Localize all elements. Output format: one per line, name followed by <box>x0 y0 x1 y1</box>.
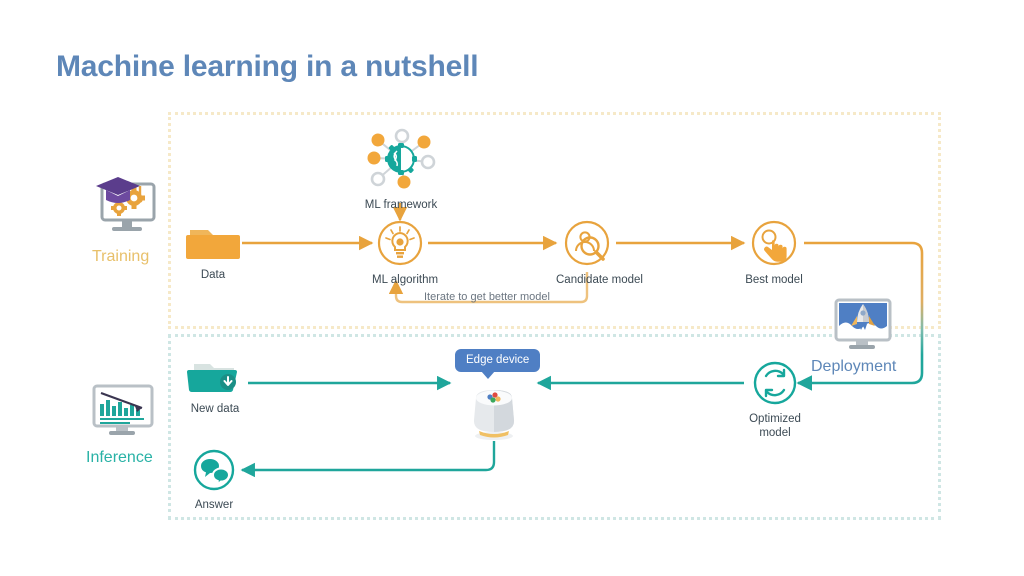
node-label: Data <box>182 268 244 282</box>
sidebar-item-inference <box>88 380 160 444</box>
node-ml-framework: ML framework <box>358 124 444 212</box>
node-label: Candidate model <box>556 273 618 287</box>
node-label: Best model <box>744 273 804 287</box>
node-label: Optimized model <box>744 412 806 441</box>
node-answer: Answer <box>186 448 242 512</box>
node-new-data: New data <box>184 360 246 416</box>
training-monitor-gears-gradcap-icon <box>84 170 164 242</box>
node-ml-algorithm: ML algorithm <box>372 219 428 287</box>
hand-select-circle-icon <box>744 219 804 269</box>
node-label: New data <box>184 402 246 416</box>
speech-bubbles-circle-icon <box>186 448 242 494</box>
diagram-canvas: Machine learning in a nutshell <box>0 0 1024 576</box>
smart-speaker-icon <box>460 378 528 444</box>
inference-section-label: Inference <box>86 449 153 467</box>
node-label: ML algorithm <box>372 273 428 287</box>
node-label-line1: Optimized <box>749 413 801 425</box>
deployment-section-label: Deployment <box>811 358 896 376</box>
person-magnifier-circle-icon <box>556 219 618 269</box>
training-section-label: Training <box>92 248 149 266</box>
node-label-line2: model <box>759 427 790 439</box>
sidebar-item-deployment <box>828 294 898 358</box>
iterate-annotation: Iterate to get better model <box>424 291 550 303</box>
sidebar-item-training <box>84 170 164 242</box>
node-label: Answer <box>186 498 242 512</box>
folder-download-icon <box>184 360 246 398</box>
lightbulb-gear-circle-icon <box>372 219 428 269</box>
node-data: Data <box>182 222 244 282</box>
node-best-model: Best model <box>744 219 804 287</box>
node-label: ML framework <box>358 198 444 212</box>
node-edge-device <box>460 378 528 444</box>
node-candidate-model: Candidate model <box>556 219 618 287</box>
page-title: Machine learning in a nutshell <box>56 50 478 84</box>
edge-device-callout: Edge device <box>455 349 540 372</box>
node-optimized-model: Optimized model <box>744 360 806 441</box>
folder-icon <box>182 222 244 264</box>
neural-network-brain-gear-icon <box>358 124 444 194</box>
inference-monitor-barchart-icon <box>88 380 160 444</box>
sync-refresh-circle-icon <box>744 360 806 408</box>
deployment-monitor-rocket-icon <box>828 294 898 358</box>
training-section-boundary <box>168 112 941 329</box>
